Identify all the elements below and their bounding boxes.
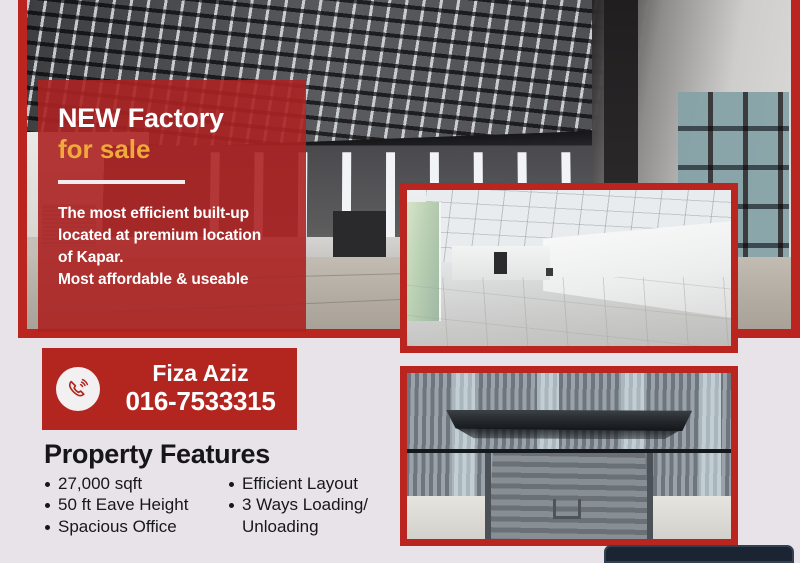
promo-body-line-2: located at premium location (58, 225, 284, 247)
cropped-bottom-widget[interactable] (604, 545, 794, 563)
promo-headline: NEW Factory (58, 104, 284, 133)
office-wall-fixture (546, 268, 553, 276)
loading-photo-content (407, 373, 731, 539)
features-left-column: 27,000 sqft 50 ft Eave Height Spacious O… (44, 473, 216, 538)
shutter-rail-left (485, 453, 491, 539)
features-heading: Property Features (44, 440, 394, 470)
entrance-canopy (446, 410, 692, 432)
wall-plinth-left (407, 496, 485, 539)
promo-body-line-1: The most efficient built-up (58, 203, 284, 225)
features-right-column: Efficient Layout 3 Ways Loading/ Unloadi… (228, 473, 393, 538)
empty-office-interior-photo (400, 183, 738, 353)
feature-item: 27,000 sqft (44, 473, 216, 495)
property-features-section: Property Features 27,000 sqft 50 ft Eave… (44, 440, 394, 538)
feature-item: 50 ft Eave Height (44, 494, 216, 516)
agent-name: Fiza Aziz (152, 361, 248, 386)
feature-item: Unloading (228, 516, 393, 538)
feature-item: Spacious Office (44, 516, 216, 538)
feature-item: Efficient Layout (228, 473, 393, 495)
contact-details: Fiza Aziz 016-7533315 (110, 361, 297, 416)
office-tiled-floor (407, 277, 731, 346)
property-flyer: NEW Factory for sale The most efficient … (0, 0, 800, 552)
shutter-rail-right (647, 453, 653, 539)
promo-subheadline: for sale (58, 135, 284, 164)
promo-body-line-4: Most affordable & useable (58, 269, 284, 291)
office-photo-content (407, 190, 731, 346)
agent-phone-number[interactable]: 016-7533315 (126, 387, 276, 417)
promo-body-line-3: of Kapar. (58, 247, 284, 269)
roller-shutter-door (488, 453, 650, 539)
loading-bay-shutter-photo (400, 366, 738, 546)
promo-overlay-panel: NEW Factory for sale The most efficient … (38, 80, 306, 332)
feature-item: 3 Ways Loading/ (228, 494, 393, 516)
shutter-handle (553, 499, 581, 519)
canopy-underside (456, 428, 683, 440)
features-columns: 27,000 sqft 50 ft Eave Height Spacious O… (44, 473, 394, 538)
ringing-phone-icon (56, 367, 100, 411)
wall-plinth-right (653, 496, 731, 539)
office-doorway (494, 252, 507, 274)
contact-bar[interactable]: Fiza Aziz 016-7533315 (42, 348, 297, 430)
dock-door-1 (333, 211, 386, 264)
promo-divider (58, 180, 185, 184)
